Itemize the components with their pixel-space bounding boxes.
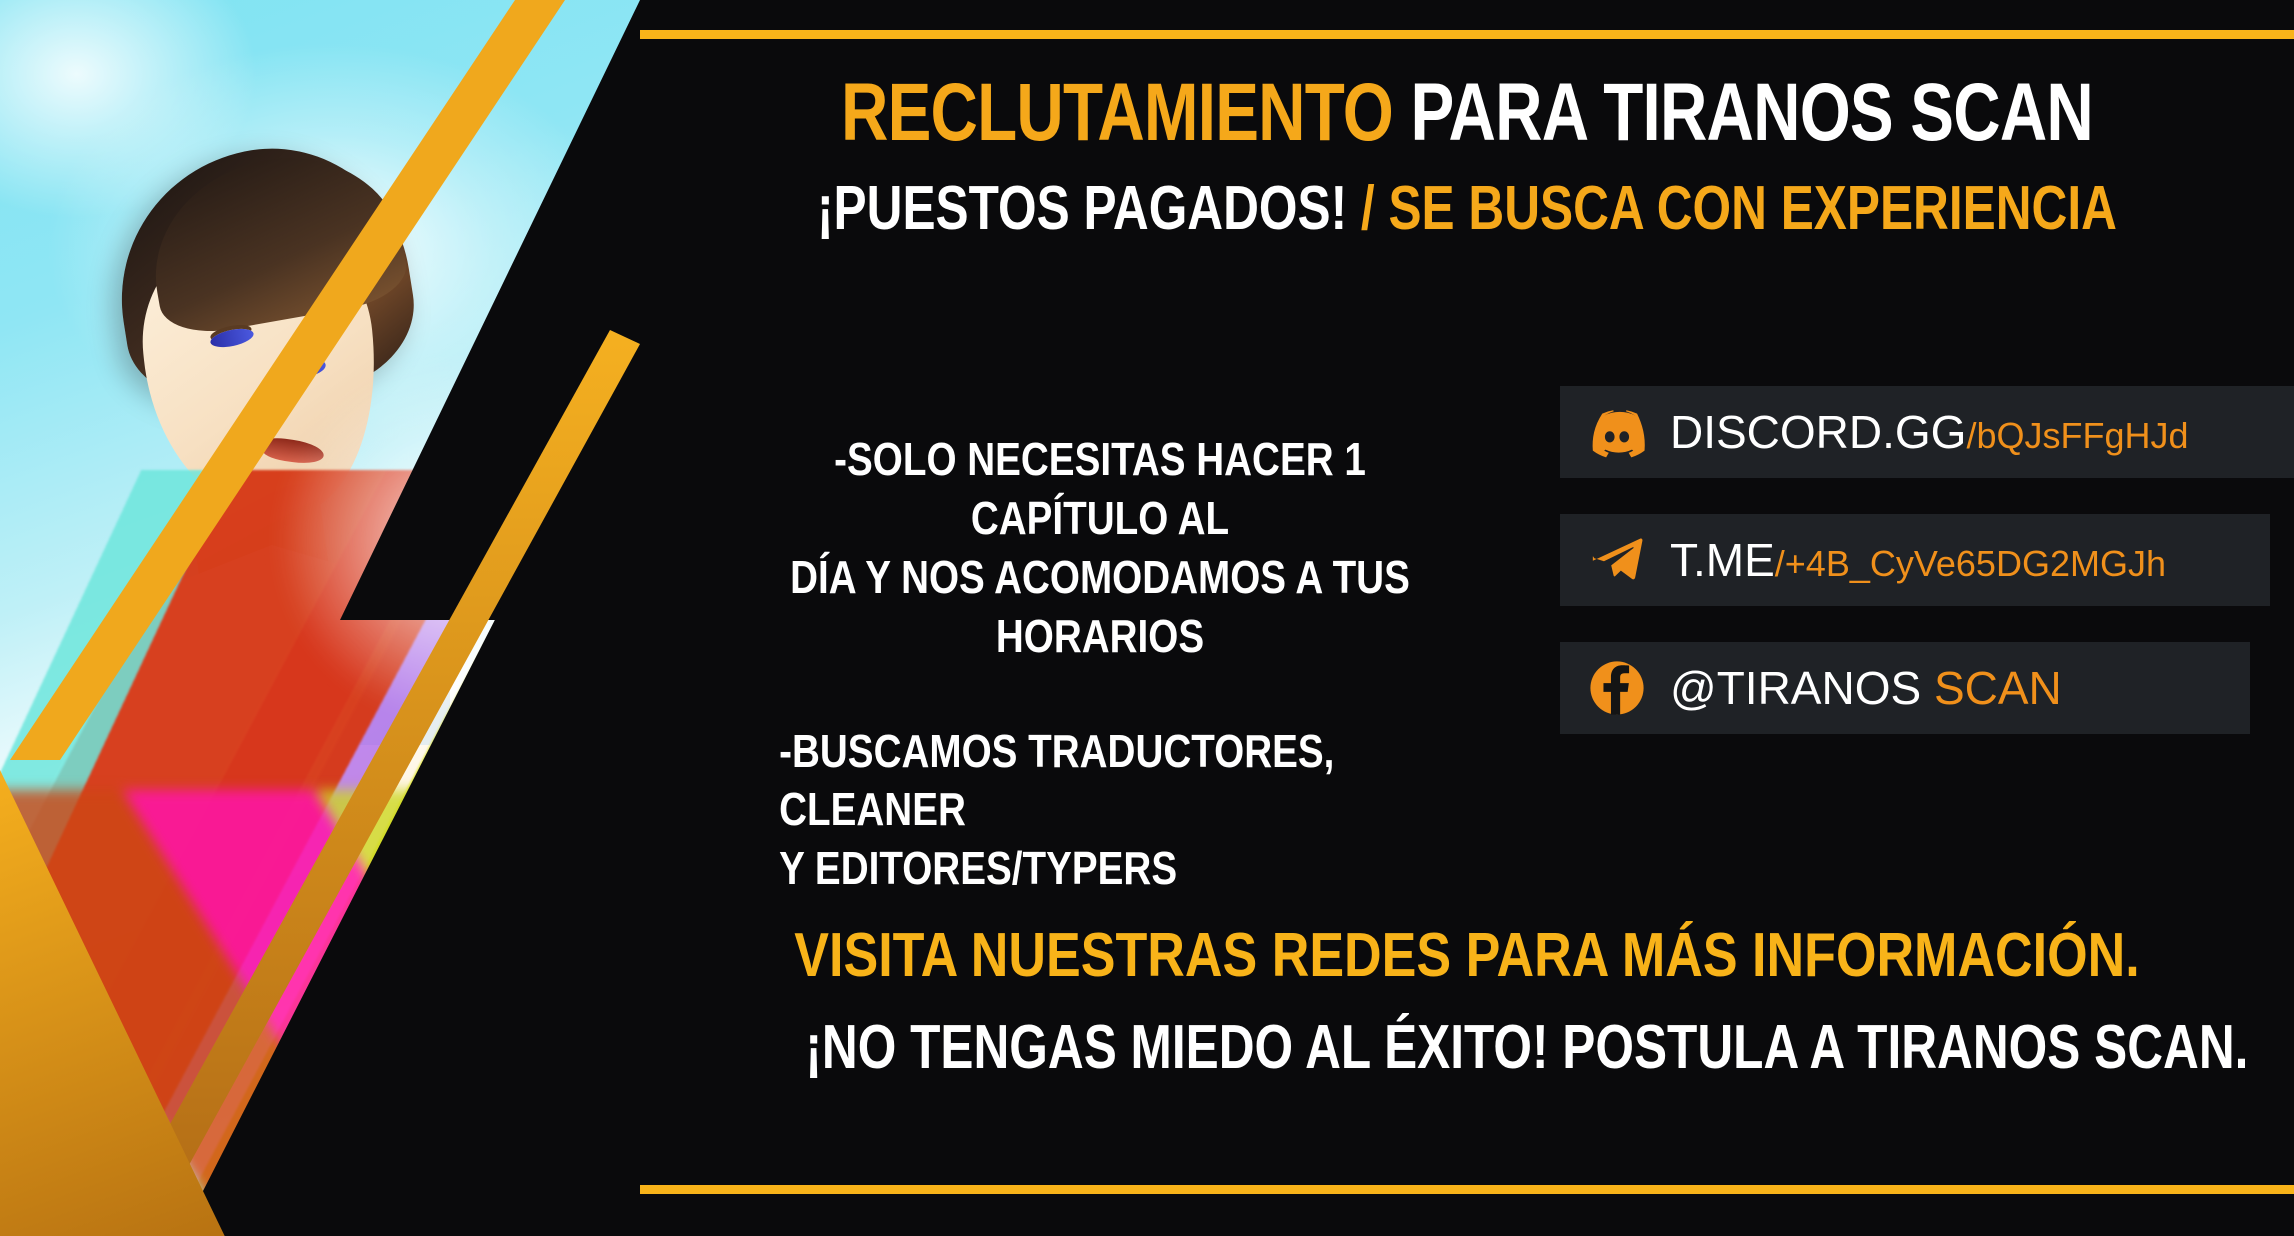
requirement-paragraph-schedule: -SOLO NECESITAS HACER 1 CAPÍTULO AL DÍA … <box>764 430 1436 666</box>
facebook-handle: @TIRANOS <box>1670 662 1921 714</box>
contact-link-telegram[interactable]: T.ME/+4B_CyVe65DG2MGJh <box>1560 514 2270 606</box>
poster-content: RECLUTAMIENTO PARA TIRANOS SCAN ¡PUESTOS… <box>640 0 2294 1236</box>
cta-visit-networks: VISITA NUESTRAS REDES PARA MÁS INFORMACI… <box>772 920 2161 991</box>
discord-link-text: DISCORD.GG/bQJsFFgHJd <box>1670 405 2189 459</box>
contact-links-list: DISCORD.GG/bQJsFFgHJd T.ME/+4B_CyVe65DG2… <box>1560 386 2294 770</box>
subhead-gold-part: / SE BUSCA CON EXPERIENCIA <box>1361 174 2117 243</box>
bottom-gold-rule <box>640 1185 2294 1194</box>
telegram-link-text: T.ME/+4B_CyVe65DG2MGJh <box>1670 533 2166 587</box>
requirements-block: -SOLO NECESITAS HACER 1 CAPÍTULO AL DÍA … <box>700 430 1500 898</box>
character-artwork-panel <box>0 0 640 1236</box>
facebook-link-text: @TIRANOS SCAN <box>1670 661 2062 715</box>
requirement-paragraph-roles: -BUSCAMOS TRADUCTORES, CLEANER Y EDITORE… <box>764 722 1436 899</box>
telegram-invite-code: /+4B_CyVe65DG2MGJh <box>1775 543 2166 584</box>
facebook-icon <box>1588 659 1646 717</box>
discord-icon <box>1588 403 1646 461</box>
headline-gold-part: RECLUTAMIENTO <box>841 67 1393 158</box>
headline-white-part: PARA TIRANOS SCAN <box>1410 67 2093 158</box>
contact-link-facebook[interactable]: @TIRANOS SCAN <box>1560 642 2250 734</box>
discord-invite-code: /bQJsFFgHJd <box>1966 415 2188 456</box>
page-subtitle: ¡PUESTOS PAGADOS! / SE BUSCA CON EXPERIE… <box>805 178 2128 240</box>
requirement-line: -BUSCAMOS TRADUCTORES, CLEANER <box>779 722 1436 840</box>
page-title: RECLUTAMIENTO PARA TIRANOS SCAN <box>805 72 2128 154</box>
subhead-white-part: ¡PUESTOS PAGADOS! <box>817 174 1347 243</box>
cta-apply: ¡NO TENGAS MIEDO AL ÉXITO! POSTULA A TIR… <box>805 1012 2128 1083</box>
recruitment-poster: RECLUTAMIENTO PARA TIRANOS SCAN ¡PUESTOS… <box>0 0 2294 1236</box>
requirement-line: Y EDITORES/TYPERS <box>779 839 1436 898</box>
discord-domain: DISCORD.GG <box>1670 406 1966 458</box>
requirement-line: DÍA Y NOS ACOMODAMOS A TUS HORARIOS <box>764 548 1436 666</box>
contact-link-discord[interactable]: DISCORD.GG/bQJsFFgHJd <box>1560 386 2294 478</box>
facebook-handle-accent: SCAN <box>1934 662 2062 714</box>
requirement-line: -SOLO NECESITAS HACER 1 CAPÍTULO AL <box>764 430 1436 548</box>
top-gold-rule <box>640 30 2294 39</box>
telegram-domain: T.ME <box>1670 534 1775 586</box>
telegram-icon <box>1588 531 1646 589</box>
